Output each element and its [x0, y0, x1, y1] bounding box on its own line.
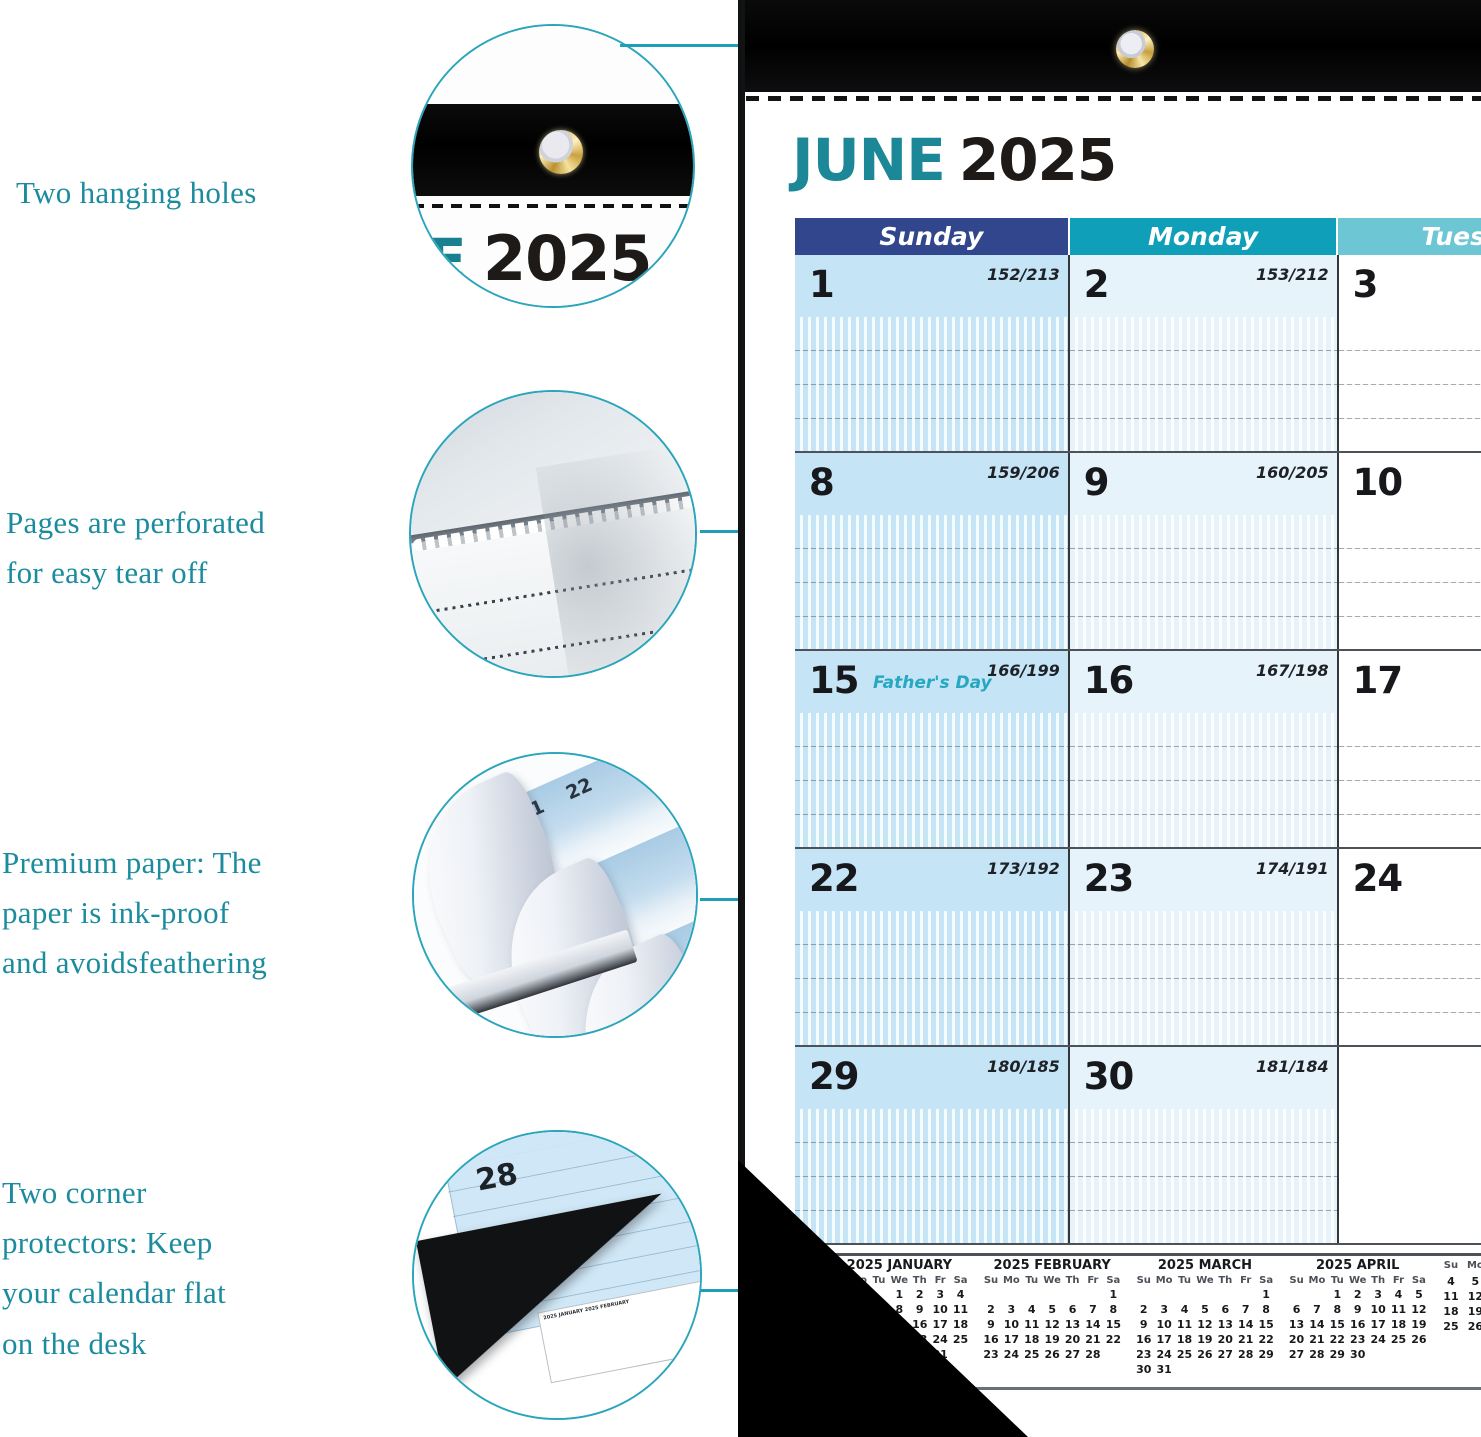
mini-calendar-week: 12345	[1286, 1288, 1429, 1303]
calendar-product-image: JUNE2025 Sunday Monday Tues 1 152/213 2 …	[738, 0, 1481, 1437]
mini-calendar-day: 7	[1307, 1303, 1327, 1318]
mini-calendar-day: 16	[1348, 1318, 1368, 1333]
note-rules	[1339, 911, 1481, 1045]
calendar-grid: Sunday Monday Tues 1 152/213 2 153/212 3	[795, 218, 1481, 1245]
mini-calendar-day: 5	[1409, 1288, 1429, 1303]
mini-weekday-header: Sa	[1103, 1275, 1123, 1288]
month-name: JUNE	[792, 126, 945, 194]
holiday-label: Father's Day	[873, 673, 992, 693]
day-of-year: 152/213	[987, 265, 1060, 284]
mini-calendar-day: 9	[1348, 1303, 1368, 1318]
mini-calendar-day: 29	[1327, 1348, 1347, 1363]
mini-weekday-header: Fr	[1083, 1275, 1103, 1288]
feature-label-perforated-pages: Pages are perforated for easy tear off	[6, 498, 416, 598]
mini-calendar-day	[1307, 1288, 1327, 1303]
note-rules	[1070, 713, 1337, 847]
mini-calendar-day: 19	[1463, 1305, 1481, 1320]
calendar-day-cell[interactable]: 16 167/198	[1070, 651, 1339, 847]
calendar-day-cell[interactable]: 8 159/206	[795, 453, 1070, 649]
mini-calendar-day: 11	[1388, 1303, 1408, 1318]
mini-calendar-day: 30	[1348, 1348, 1368, 1363]
mini-weekday-header: Mo	[1307, 1275, 1327, 1288]
day-number: 2	[1084, 263, 1109, 306]
mini-calendar: 2025 MARCHSuMoTuWeThFrSa1234567891011121…	[1134, 1258, 1277, 1388]
grommet-icon	[1116, 30, 1154, 68]
mini-calendar-day	[1195, 1288, 1215, 1303]
mini-weekday-header: We	[1195, 1275, 1215, 1288]
note-rules	[795, 515, 1068, 649]
mini-calendar-day: 15	[1327, 1318, 1347, 1333]
day-of-year: 153/212	[1256, 265, 1329, 284]
mini-calendar-day: 12	[1409, 1303, 1429, 1318]
mini-calendar-day: 24	[1368, 1333, 1388, 1348]
mini-calendar-day: 23	[1134, 1348, 1154, 1363]
calendar-day-cell[interactable]: 3	[1339, 255, 1481, 451]
mini-calendar-day: 17	[1368, 1318, 1388, 1333]
mini-calendar-day	[1062, 1288, 1082, 1303]
mini-calendar-day: 3	[1154, 1303, 1174, 1318]
mini-calendar-week: 20212223242526	[1286, 1333, 1429, 1348]
day-number: 22	[809, 857, 859, 900]
calendar-black-header	[738, 0, 1481, 92]
mini-calendar-week: 1819	[1439, 1305, 1481, 1320]
weekday-header-sunday: Sunday	[795, 218, 1070, 255]
mini-calendar-week: 2345678	[1134, 1303, 1277, 1318]
mini-calendar-day	[1256, 1363, 1276, 1378]
day-number: 1	[809, 263, 834, 306]
mini-calendar-day: 13	[1286, 1318, 1306, 1333]
mini-calendar-day	[1174, 1288, 1194, 1303]
mini-calendar-day	[1368, 1348, 1388, 1363]
mini-calendar-day: 6	[1286, 1303, 1306, 1318]
mini-calendar-day: 15	[1103, 1318, 1123, 1333]
mini-calendar-day: 23	[1348, 1333, 1368, 1348]
mini-calendar-day: 22	[1256, 1333, 1276, 1348]
mini-weekday-header: Sa	[1409, 1275, 1429, 1288]
mini-weekday-header: Tu	[1327, 1275, 1347, 1288]
calendar-week-row: 22 173/192 23 174/191 24	[795, 849, 1481, 1047]
mini-calendar-day: 28	[1083, 1348, 1103, 1363]
note-rules	[1339, 317, 1481, 451]
mini-calendar-day: 13	[1215, 1318, 1235, 1333]
calendar-week-row: 15 166/199 Father's Day 16 167/198 17	[795, 651, 1481, 849]
day-number: 29	[809, 1055, 859, 1098]
mini-calendar-day: 1	[1327, 1288, 1347, 1303]
mini-calendar-day: 14	[1083, 1318, 1103, 1333]
note-rules	[795, 317, 1068, 451]
corner-protector-triangle	[738, 1160, 1028, 1437]
mini-calendar-day: 4	[1439, 1275, 1463, 1290]
mini-calendar-day: 12	[1463, 1290, 1481, 1305]
mini-calendar-week: 1112	[1439, 1290, 1481, 1305]
mini-calendar-day: 5	[1195, 1303, 1215, 1318]
mini-calendar-day: 10	[1154, 1318, 1174, 1333]
mini-calendar-day: 25	[1174, 1348, 1194, 1363]
year-number: 2025	[959, 126, 1116, 194]
day-number: 24	[1353, 857, 1403, 900]
mini-weekday-header: Fr	[1388, 1275, 1408, 1288]
mini-calendar-day: 19	[1195, 1333, 1215, 1348]
mini-calendar-day: 26	[1463, 1320, 1481, 1335]
mini-calendar-day: 19	[1409, 1318, 1429, 1333]
day-number: 17	[1353, 659, 1403, 702]
mini-weekday-header: Sa	[1256, 1275, 1276, 1288]
mini-weekday-header: We	[1348, 1275, 1368, 1288]
calendar-day-cell[interactable]: 30 181/184	[1070, 1047, 1339, 1243]
calendar-day-cell[interactable]: 22 173/192	[795, 849, 1070, 1045]
mini-calendar-day: 27	[1062, 1348, 1082, 1363]
mini-weekday-header: Su	[1439, 1260, 1463, 1273]
calendar-day-cell[interactable]: 2 153/212	[1070, 255, 1339, 451]
perforation-line	[746, 96, 1481, 101]
mini-weekday-header: Mo	[1154, 1275, 1174, 1288]
mini-calendar-day	[1286, 1288, 1306, 1303]
mini-weekday-header: Th	[1062, 1275, 1082, 1288]
mini-calendar-week: 13141516171819	[1286, 1318, 1429, 1333]
calendar-day-cell[interactable]	[1339, 1047, 1481, 1243]
calendar-day-cell[interactable]: 1 152/213	[795, 255, 1070, 451]
day-of-year: 180/185	[987, 1057, 1060, 1076]
mini-calendar-day: 11	[1174, 1318, 1194, 1333]
mini-calendar-day: 11	[1439, 1290, 1463, 1305]
mini-weekday-header: Su	[1286, 1275, 1306, 1288]
mini-calendar-day: 28	[1307, 1348, 1327, 1363]
mini-calendar-day: 16	[1134, 1333, 1154, 1348]
mini-calendar-week: 45	[1439, 1275, 1481, 1290]
mini-calendar-day: 1	[1103, 1288, 1123, 1303]
weekday-header-monday: Monday	[1070, 218, 1339, 255]
mini-calendar-day	[1174, 1363, 1194, 1378]
mini-calendar-week: 23242526272829	[1134, 1348, 1277, 1363]
mini-calendar-day: 8	[1103, 1303, 1123, 1318]
day-of-year: 166/199	[987, 661, 1060, 680]
note-rules	[1339, 515, 1481, 649]
mini-calendar-day	[1103, 1348, 1123, 1363]
mini-calendar-day: 5	[1463, 1275, 1481, 1290]
mini-calendar-day: 18	[1439, 1305, 1463, 1320]
mini-calendar-day: 26	[1409, 1333, 1429, 1348]
day-number: 30	[1084, 1055, 1134, 1098]
mini-weekday-header: Su	[1134, 1275, 1154, 1288]
mini-calendar-day: 28	[1236, 1348, 1256, 1363]
mini-calendar-day	[1154, 1288, 1174, 1303]
mini-calendar-title: 2025 MARCH	[1134, 1258, 1277, 1273]
calendar-day-cell[interactable]: 9 160/205	[1070, 453, 1339, 649]
mini-calendar-day	[1215, 1363, 1235, 1378]
weekday-header-tuesday: Tues	[1338, 218, 1481, 255]
mini-weekday-header: Th	[1215, 1275, 1235, 1288]
mini-calendar-week: 16171819202122	[1134, 1333, 1277, 1348]
note-rules	[1070, 911, 1337, 1045]
mini-calendar-day: 6	[1215, 1303, 1235, 1318]
mini-weekday-header: Mo	[1463, 1260, 1481, 1273]
mini-calendar-title: 2025 APRIL	[1286, 1258, 1429, 1273]
mini-calendar-day: 4	[1174, 1303, 1194, 1318]
mini-calendar-day: 20	[1062, 1333, 1082, 1348]
mini-calendar-day: 27	[1286, 1348, 1306, 1363]
mini-calendar-day: 30	[1134, 1363, 1154, 1378]
mini-calendar-day: 14	[1236, 1318, 1256, 1333]
day-of-year: 159/206	[987, 463, 1060, 482]
note-rules	[1339, 713, 1481, 847]
mini-calendar-day	[1388, 1348, 1408, 1363]
calendar-day-cell[interactable]: 15 166/199 Father's Day	[795, 651, 1070, 847]
mini-calendar-day: 12	[1042, 1318, 1062, 1333]
calendar-day-cell[interactable]: 10	[1339, 453, 1481, 649]
mini-calendar: SuMo45111218192526	[1439, 1258, 1481, 1388]
mini-weekday-header: Tu	[1174, 1275, 1194, 1288]
mini-calendar-day: 20	[1215, 1333, 1235, 1348]
note-rules	[1070, 317, 1337, 451]
mini-calendar-day: 5	[1042, 1303, 1062, 1318]
note-rules	[1070, 1109, 1337, 1243]
mini-calendar-day	[1195, 1363, 1215, 1378]
grommet-icon	[539, 130, 583, 174]
mini-calendar-day	[1215, 1288, 1235, 1303]
mini-calendar-day: 9	[1134, 1318, 1154, 1333]
inset-photo-perforated-pages	[409, 390, 697, 678]
mini-calendar-day: 18	[1174, 1333, 1194, 1348]
mini-calendar-day: 7	[1083, 1303, 1103, 1318]
mini-calendar-week: 1	[1134, 1288, 1277, 1303]
mini-calendar-day: 22	[1103, 1333, 1123, 1348]
mini-calendar-day: 19	[1042, 1333, 1062, 1348]
day-of-year: 174/191	[1256, 859, 1329, 878]
inset-photo-corner-protector: 28 2025 JANUARY 2025 FEBRUARY	[412, 1130, 702, 1420]
inset-photo-hanging-hole: E 2025	[411, 24, 695, 308]
calendar-day-cell[interactable]: 24	[1339, 849, 1481, 1045]
calendar-week-row: 8 159/206 9 160/205 10	[795, 453, 1481, 651]
inset-month-partial: E	[427, 226, 467, 294]
mini-calendar-day: 12	[1195, 1318, 1215, 1333]
calendar-week-row: 1 152/213 2 153/212 3	[795, 255, 1481, 453]
day-number: 23	[1084, 857, 1134, 900]
mini-calendar-day: 25	[1388, 1333, 1408, 1348]
mini-calendar-day: 2	[1134, 1303, 1154, 1318]
day-number: 16	[1084, 659, 1134, 702]
mini-calendar-day	[1236, 1288, 1256, 1303]
mini-calendar-day: 14	[1307, 1318, 1327, 1333]
mini-calendar-day: 8	[1256, 1303, 1276, 1318]
day-of-year: 167/198	[1256, 661, 1329, 680]
mini-calendar-day: 8	[1327, 1303, 1347, 1318]
mini-calendar-day: 15	[1256, 1318, 1276, 1333]
day-number: 10	[1353, 461, 1403, 504]
mini-calendar-day: 20	[1286, 1333, 1306, 1348]
mini-weekday-header: Fr	[1236, 1275, 1256, 1288]
mini-calendar-day: 4	[1388, 1288, 1408, 1303]
day-number: 15	[809, 659, 859, 702]
mini-calendar-day: 3	[1368, 1288, 1388, 1303]
mini-calendar-day: 2	[1348, 1288, 1368, 1303]
mini-calendar-day	[1134, 1288, 1154, 1303]
mini-calendar-day: 27	[1215, 1348, 1235, 1363]
inset-photo-premium-paper: 21 22	[412, 752, 698, 1038]
calendar-day-cell[interactable]: 17	[1339, 651, 1481, 847]
inset-year-text: 2025	[483, 222, 652, 295]
note-rules	[795, 713, 1068, 847]
feature-label-premium-paper: Premium paper: The paper is ink-proof an…	[2, 838, 412, 989]
mini-calendar-day: 10	[1368, 1303, 1388, 1318]
feature-label-hanging-holes: Two hanging holes	[16, 168, 416, 218]
weekday-header-row: Sunday Monday Tues	[795, 218, 1481, 255]
day-number: 8	[809, 461, 834, 504]
note-rules	[795, 911, 1068, 1045]
mini-calendar-day: 26	[1195, 1348, 1215, 1363]
mini-calendar-week: 6789101112	[1286, 1303, 1429, 1318]
mini-calendar-week: 27282930	[1286, 1348, 1429, 1363]
mini-calendar-day: 29	[1256, 1348, 1276, 1363]
mini-calendar-day: 31	[1154, 1363, 1174, 1378]
calendar-month-title: JUNE2025	[792, 126, 1116, 194]
mini-calendar-day: 13	[1062, 1318, 1082, 1333]
day-of-year: 173/192	[987, 859, 1060, 878]
mini-calendar-day	[1409, 1348, 1429, 1363]
mini-calendar-day: 17	[1154, 1333, 1174, 1348]
mini-calendar-day: 6	[1062, 1303, 1082, 1318]
mini-calendar-day: 7	[1236, 1303, 1256, 1318]
mini-calendar-day: 25	[1439, 1320, 1463, 1335]
mini-calendar: 2025 APRILSuMoTuWeThFrSa1234567891011121…	[1286, 1258, 1429, 1388]
calendar-day-cell[interactable]: 23 174/191	[1070, 849, 1339, 1045]
mini-calendar-day: 18	[1388, 1318, 1408, 1333]
day-of-year: 160/205	[1256, 463, 1329, 482]
day-number: 3	[1353, 263, 1378, 306]
mini-calendar-week: 2526	[1439, 1320, 1481, 1335]
mini-weekday-header: Th	[1368, 1275, 1388, 1288]
mini-weekday-header: We	[1042, 1275, 1062, 1288]
feature-panel: Two hanging holes Pages are perforated f…	[0, 0, 738, 1437]
mini-calendar-day: 21	[1236, 1333, 1256, 1348]
mini-calendar-day	[1236, 1363, 1256, 1378]
mini-calendar-week: 3031	[1134, 1363, 1277, 1378]
note-rules	[1070, 515, 1337, 649]
feature-label-corner-protector: Two corner protectors: Keep your calenda…	[2, 1168, 362, 1369]
mini-calendar-day: 24	[1154, 1348, 1174, 1363]
mini-calendar-day: 21	[1083, 1333, 1103, 1348]
mini-calendar-day	[1083, 1288, 1103, 1303]
mini-calendar-day: 22	[1327, 1333, 1347, 1348]
mini-calendar-day	[1042, 1288, 1062, 1303]
day-of-year: 181/184	[1256, 1057, 1329, 1076]
perforation-line-closeup	[413, 204, 693, 208]
mini-calendar-day: 26	[1042, 1348, 1062, 1363]
mini-calendar-week: 9101112131415	[1134, 1318, 1277, 1333]
mini-calendar-day: 21	[1307, 1333, 1327, 1348]
day-number: 9	[1084, 461, 1109, 504]
mini-calendar-day: 1	[1256, 1288, 1276, 1303]
